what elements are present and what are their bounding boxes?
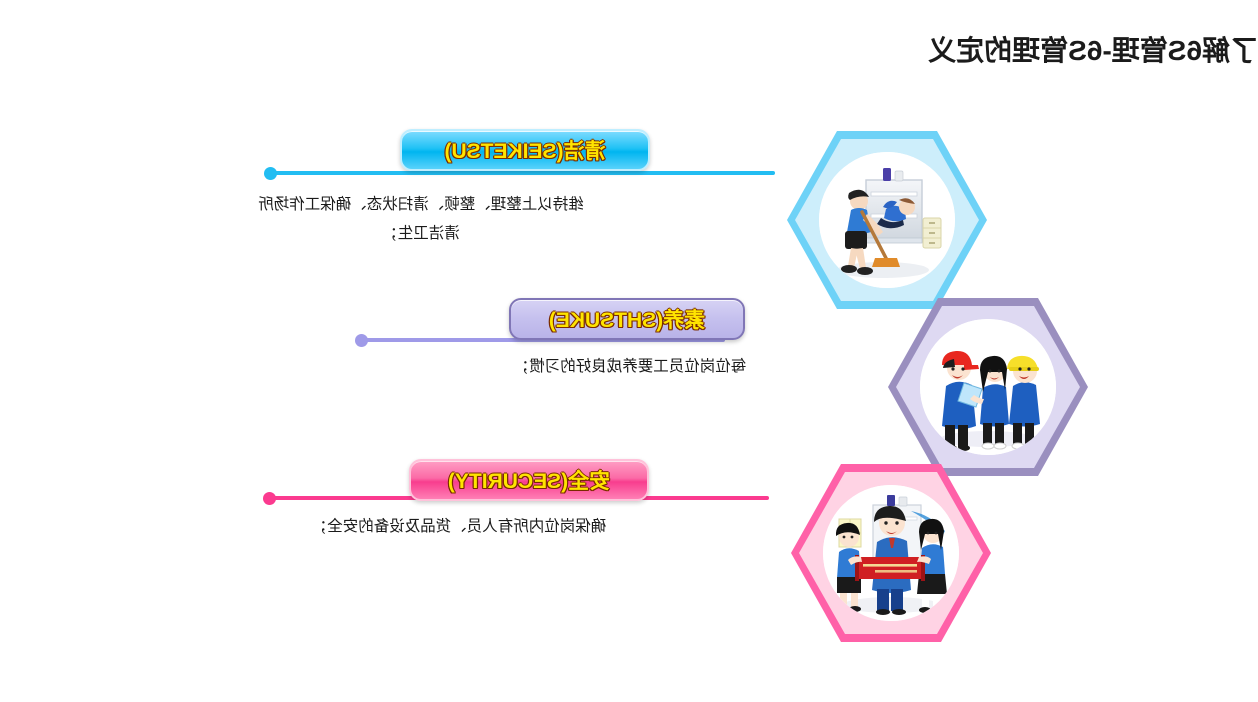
hex-icon-safety-banner bbox=[791, 464, 991, 642]
hex-photo-circle-safety bbox=[823, 485, 959, 621]
connector-dot-shitsuke bbox=[355, 334, 368, 347]
label-pill-security[interactable]: 安全(SECURITY) bbox=[409, 459, 649, 501]
art-people-scene bbox=[920, 319, 1056, 455]
description-seiketsu-line2: 清洁卫生； bbox=[182, 219, 660, 248]
description-security-line1: 确保岗位内所有人员、货品及设备的安全； bbox=[253, 512, 665, 541]
hex-icon-people-training bbox=[888, 298, 1088, 476]
connector-dot-seiketsu bbox=[264, 167, 277, 180]
label-text-seiketsu: 清洁(SEIKETSU) bbox=[445, 140, 606, 163]
hex-photo-circle-people bbox=[920, 319, 1056, 455]
description-shitsuke: 每位岗位员工要养成良好的习惯； bbox=[495, 352, 765, 381]
art-safety-scene bbox=[823, 485, 959, 621]
label-pill-shitsuke[interactable]: 素养(SHTSUKE) bbox=[509, 298, 745, 340]
description-shitsuke-line1: 每位岗位员工要养成良好的习惯； bbox=[495, 352, 765, 381]
slide-canvas: 了解6S管理-6S管理的定义 清洁(SEIKETSU) 维持以上整理、整顿、清扫… bbox=[0, 0, 1258, 702]
description-seiketsu-line1: 维持以上整理、整顿、清扫状态、确保工作场所 bbox=[182, 190, 660, 219]
label-text-shitsuke: 素养(SHTSUKE) bbox=[549, 309, 705, 332]
label-pill-seiketsu[interactable]: 清洁(SEIKETSU) bbox=[400, 129, 650, 171]
description-security: 确保岗位内所有人员、货品及设备的安全； bbox=[253, 512, 665, 541]
connector-dot-security bbox=[263, 492, 276, 505]
page-title: 了解6S管理-6S管理的定义 bbox=[838, 34, 1258, 68]
hex-icon-cleaning bbox=[787, 131, 987, 309]
hex-photo-circle-cleaning bbox=[819, 152, 955, 288]
art-cleaning-scene bbox=[819, 152, 955, 288]
description-seiketsu: 维持以上整理、整顿、清扫状态、确保工作场所 清洁卫生； bbox=[182, 190, 660, 249]
label-text-security: 安全(SECURITY) bbox=[448, 470, 610, 493]
